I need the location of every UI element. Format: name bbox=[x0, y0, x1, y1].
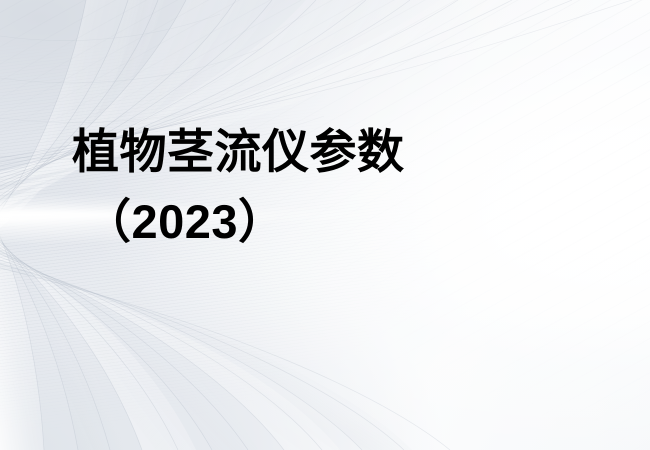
title-slide: 植物茎流仪参数 （2023） bbox=[0, 0, 650, 450]
slide-title-block: 植物茎流仪参数 （2023） bbox=[70, 128, 590, 245]
slide-title-line-2: （2023） bbox=[84, 198, 590, 245]
slide-title-line-1: 植物茎流仪参数 bbox=[72, 128, 590, 175]
